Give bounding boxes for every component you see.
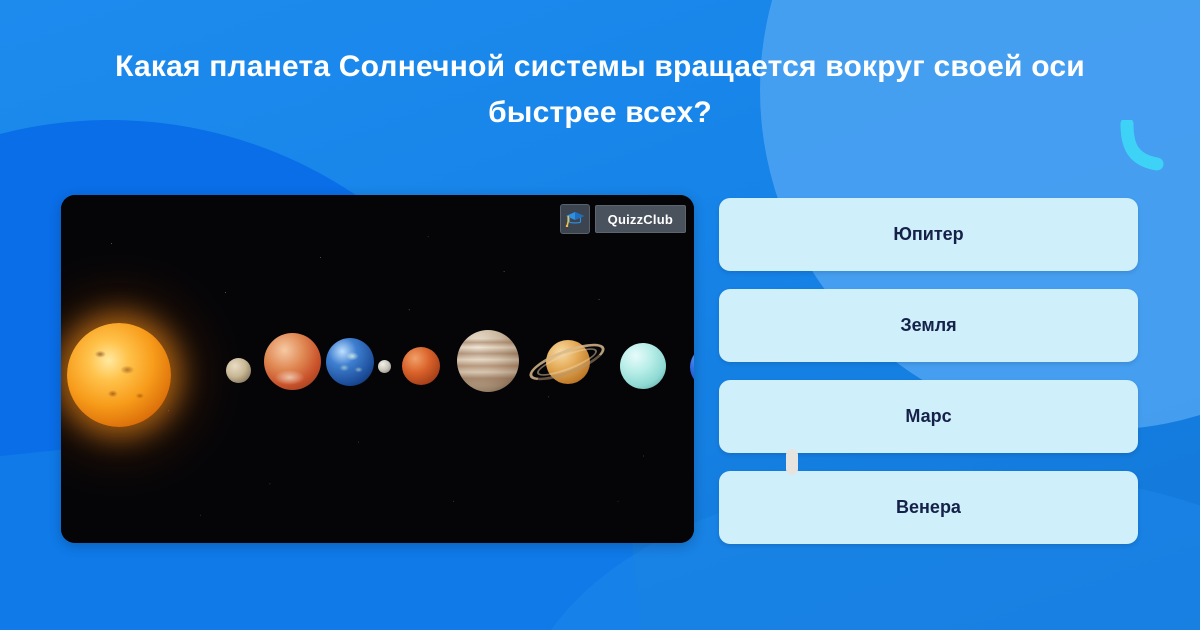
celestial-body-jupiter (457, 330, 519, 392)
answer-options-list: Юпитер Земля Марс Венера (719, 198, 1138, 544)
celestial-body-venus (264, 333, 321, 390)
scrollbar-thumb[interactable] (786, 449, 798, 475)
celestial-body-neptune (690, 346, 694, 388)
watermark: QuizzClub (560, 204, 686, 234)
solar-system-row (61, 195, 694, 543)
celestial-body-mercury (226, 358, 251, 383)
celestial-body-moon (378, 360, 391, 373)
celestial-body-saturn (529, 332, 601, 392)
page-title: Какая планета Солнечной системы вращаетс… (0, 44, 1200, 136)
quiz-stage: Какая планета Солнечной системы вращаетс… (0, 0, 1200, 630)
answer-option-4[interactable]: Венера (719, 471, 1138, 544)
answer-option-label: Венера (896, 497, 961, 518)
answer-option-label: Юпитер (893, 224, 963, 245)
question-image-card: QuizzClub (61, 195, 694, 543)
celestial-body-mars (402, 347, 440, 385)
celestial-body-earth (326, 338, 374, 386)
answer-option-2[interactable]: Земля (719, 289, 1138, 362)
answer-option-3[interactable]: Марс (719, 380, 1138, 453)
celestial-body-sun (67, 323, 171, 427)
watermark-brand-label: QuizzClub (595, 205, 686, 233)
celestial-body-uranus (620, 343, 666, 389)
answer-option-1[interactable]: Юпитер (719, 198, 1138, 271)
answer-option-label: Марс (905, 406, 951, 427)
graduation-cap-icon (560, 204, 590, 234)
answer-option-label: Земля (900, 315, 956, 336)
